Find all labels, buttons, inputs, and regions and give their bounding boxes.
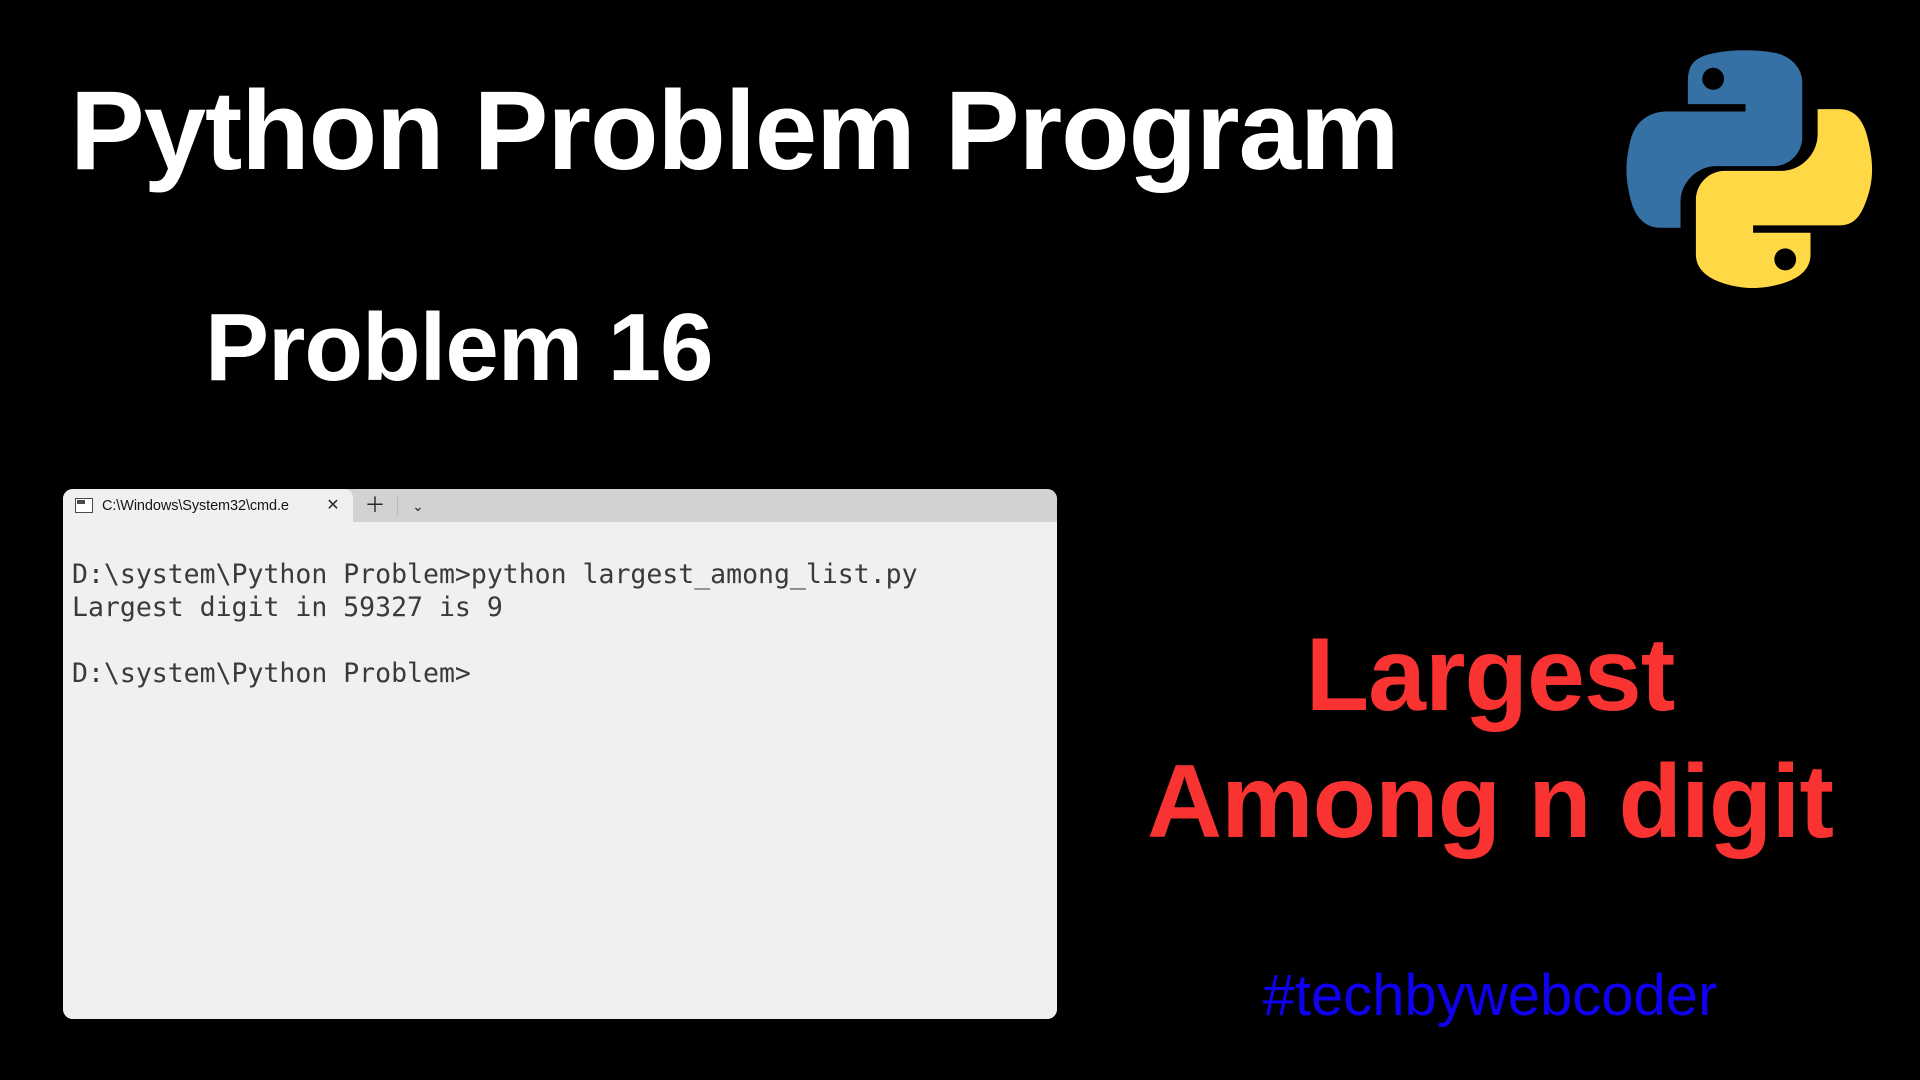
caption-line-1: Largest [1060,612,1920,739]
terminal-line: D:\system\Python Problem> [72,657,1057,690]
chevron-down-icon[interactable]: ⌄ [398,489,438,522]
cmd-app-icon-bar [77,500,85,504]
cmd-app-icon [75,498,93,513]
new-tab-icon[interactable]: ＋ [353,489,397,522]
caption-text: Largest Among n digit [1060,612,1920,866]
page-subtitle: Problem 16 [205,300,713,396]
terminal-line [72,624,1057,657]
terminal-tab-title: C:\Windows\System32\cmd.e [102,498,313,514]
caption-line-2: Among n digit [1060,739,1920,866]
close-icon[interactable]: ✕ [319,493,347,519]
python-logo [1612,38,1880,298]
page-title: Python Problem Program [70,75,1398,187]
terminal-line: Largest digit in 59327 is 9 [72,591,1057,624]
terminal-console-area[interactable]: D:\system\Python Problem>python largest_… [63,522,1057,1019]
python-logo-svg [1612,38,1880,298]
terminal-window[interactable]: C:\Windows\System32\cmd.e ✕ ＋ ⌄ D:\syste… [63,489,1057,1019]
hashtag-text: #techbywebcoder [1060,967,1920,1025]
terminal-line: D:\system\Python Problem>python largest_… [72,558,1057,591]
tabstrip-filler [438,489,1057,522]
terminal-tab-cmd[interactable]: C:\Windows\System32\cmd.e ✕ [63,489,353,522]
terminal-output: D:\system\Python Problem>python largest_… [72,558,1057,690]
terminal-tab-strip: C:\Windows\System32\cmd.e ✕ ＋ ⌄ [63,489,1057,522]
